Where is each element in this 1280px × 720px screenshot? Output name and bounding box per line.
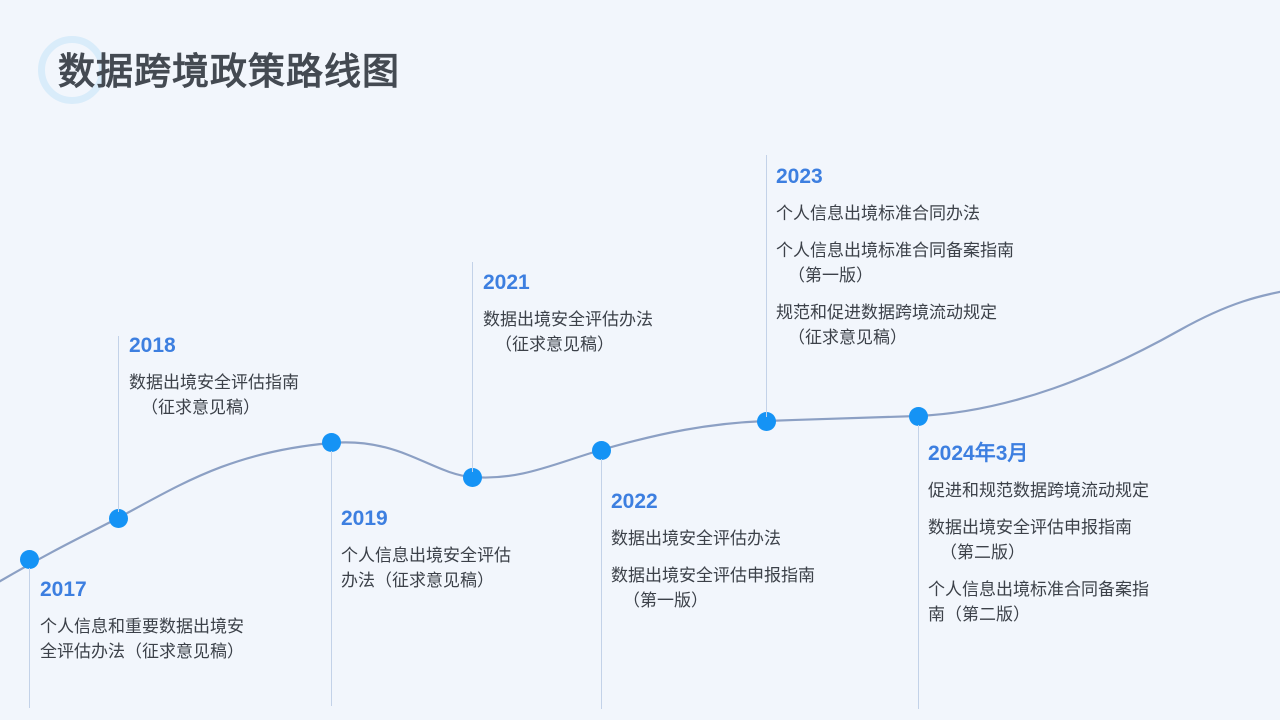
milestone-label: 2019 个人信息出境安全评估 办法（征求意见稿） <box>341 505 641 593</box>
milestone-stem <box>472 262 473 472</box>
item-line-1: 规范和促进数据跨境流动规定 <box>776 303 997 322</box>
milestone-stem <box>601 459 602 709</box>
item-line-2: （征求意见稿） <box>776 325 1106 350</box>
item-line-1: 个人信息和重要数据出境安 <box>40 617 244 636</box>
milestone-item: 个人信息和重要数据出境安 全评估办法（征求意见稿） <box>40 614 340 664</box>
item-line-2: （征求意见稿） <box>129 395 429 420</box>
milestone-item: 数据出境安全评估申报指南 （第二版） <box>928 515 1258 565</box>
milestone-year: 2023 <box>776 163 1106 191</box>
milestone-item: 数据出境安全评估指南 （征求意见稿） <box>129 370 429 420</box>
milestone-dot[interactable] <box>322 433 341 452</box>
milestone-item: 数据出境安全评估申报指南 （第一版） <box>611 563 921 613</box>
item-line-1: 个人信息出境标准合同备案指南 <box>776 241 1014 260</box>
milestone-stem <box>331 451 332 706</box>
item-line-1: 个人信息出境标准合同备案指 <box>928 580 1149 599</box>
milestone-item: 个人信息出境安全评估 办法（征求意见稿） <box>341 543 641 593</box>
milestone-stem <box>766 155 767 417</box>
milestone-year: 2018 <box>129 332 429 360</box>
item-line-2: 全评估办法（征求意见稿） <box>40 642 244 661</box>
milestone-item: 个人信息出境标准合同办法 <box>776 201 1106 226</box>
milestone-stem <box>118 336 119 512</box>
milestone-item: 个人信息出境标准合同备案指 南（第二版） <box>928 577 1258 627</box>
milestone-year: 2019 <box>341 505 641 533</box>
item-line-1: 数据出境安全评估办法 <box>483 310 653 329</box>
milestone-item: 促进和规范数据跨境流动规定 <box>928 478 1258 503</box>
milestone-year: 2024年3月 <box>928 440 1258 468</box>
milestone-label: 2022 数据出境安全评估办法 数据出境安全评估申报指南 （第一版） <box>611 488 921 613</box>
milestone-item: 规范和促进数据跨境流动规定 （征求意见稿） <box>776 300 1106 350</box>
milestone-label: 2018 数据出境安全评估指南 （征求意见稿） <box>129 332 429 420</box>
milestone-label: 2023 个人信息出境标准合同办法 个人信息出境标准合同备案指南 （第一版） 规… <box>776 163 1106 350</box>
item-line-1: 数据出境安全评估指南 <box>129 373 299 392</box>
item-line-1: 个人信息出境安全评估 <box>341 546 511 565</box>
milestone-dot[interactable] <box>592 441 611 460</box>
item-line-2: 办法（征求意见稿） <box>341 571 494 590</box>
item-line-2: （第一版） <box>776 263 1106 288</box>
item-line-2: 南（第二版） <box>928 605 1030 624</box>
milestone-stem <box>29 568 30 708</box>
milestone-item: 数据出境安全评估办法 （征求意见稿） <box>483 307 783 357</box>
milestone-label: 2017 个人信息和重要数据出境安 全评估办法（征求意见稿） <box>40 576 340 664</box>
item-line-2: （第二版） <box>928 540 1258 565</box>
milestone-dot[interactable] <box>909 407 928 426</box>
milestone-item: 数据出境安全评估办法 <box>611 526 921 551</box>
item-line-1: 个人信息出境标准合同办法 <box>776 204 980 223</box>
milestone-stem <box>918 425 919 709</box>
item-line-1: 数据出境安全评估办法 <box>611 529 781 548</box>
roadmap-canvas: 数据跨境政策路线图 2017 个人信息和重要数据出境安 全评估办法（征求意见稿）… <box>0 0 1280 720</box>
item-line-2: （征求意见稿） <box>483 332 783 357</box>
milestone-year: 2022 <box>611 488 921 516</box>
milestone-year: 2021 <box>483 269 783 297</box>
milestone-year: 2017 <box>40 576 340 604</box>
item-line-2: （第一版） <box>611 588 921 613</box>
item-line-1: 数据出境安全评估申报指南 <box>928 518 1132 537</box>
milestone-item: 个人信息出境标准合同备案指南 （第一版） <box>776 238 1106 288</box>
milestone-dot[interactable] <box>20 550 39 569</box>
milestone-label: 2024年3月 促进和规范数据跨境流动规定 数据出境安全评估申报指南 （第二版）… <box>928 440 1258 627</box>
item-line-1: 促进和规范数据跨境流动规定 <box>928 481 1149 500</box>
milestone-label: 2021 数据出境安全评估办法 （征求意见稿） <box>483 269 783 357</box>
item-line-1: 数据出境安全评估申报指南 <box>611 566 815 585</box>
